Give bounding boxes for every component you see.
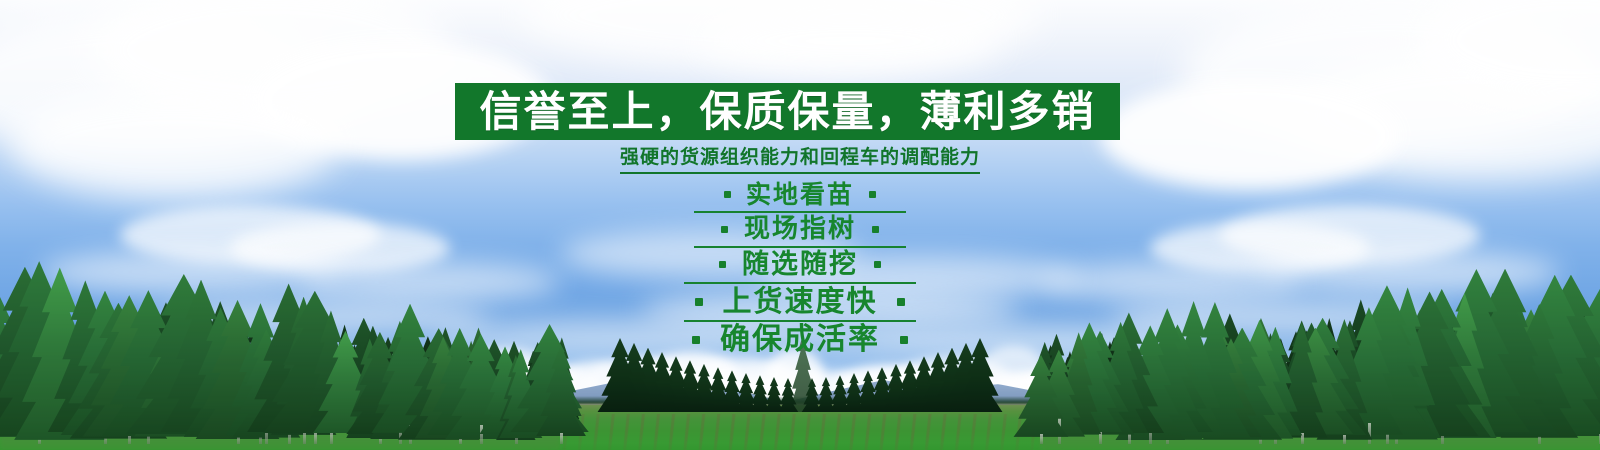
list-item: 上货速度快	[0, 287, 1600, 316]
bullet-dot-icon	[874, 261, 881, 268]
bullet-dot-icon	[721, 226, 728, 233]
list-item: 现场指树	[0, 216, 1600, 242]
bullet-dot-icon	[724, 191, 731, 198]
subtitle-text: 强硬的货源组织能力和回程车的调配能力	[620, 146, 980, 174]
list-item-label: 随选随挖	[742, 251, 858, 278]
headline-banner: 信誉至上，保质保量，薄利多销	[455, 83, 1120, 140]
list-item-label: 实地看苗	[746, 182, 854, 207]
bullet-dot-icon	[695, 298, 703, 306]
bullet-dot-icon	[872, 226, 879, 233]
list-item-label: 上货速度快	[722, 287, 877, 316]
list-item: 实地看苗	[0, 182, 1600, 207]
promo-banner: 信誉至上，保质保量，薄利多销 强硬的货源组织能力和回程车的调配能力 实地看苗 现…	[0, 0, 1600, 450]
list-item-label: 确保成活率	[720, 325, 880, 355]
bullet-dot-icon	[897, 298, 905, 306]
list-item: 确保成活率	[0, 325, 1600, 355]
bullet-dot-icon	[692, 336, 700, 344]
list-separator	[694, 246, 906, 248]
subtitle-row: 强硬的货源组织能力和回程车的调配能力	[0, 146, 1600, 174]
list-separator	[694, 211, 906, 213]
bullet-dot-icon	[900, 336, 908, 344]
headline-text: 信誉至上，保质保量，薄利多销	[479, 91, 1095, 133]
feature-list: 实地看苗 现场指树 随选随挖 上货速度快 确保成活率	[0, 182, 1600, 355]
list-item-label: 现场指树	[744, 216, 856, 242]
list-item: 随选随挖	[0, 251, 1600, 278]
bullet-dot-icon	[869, 191, 876, 198]
bullet-dot-icon	[719, 261, 726, 268]
